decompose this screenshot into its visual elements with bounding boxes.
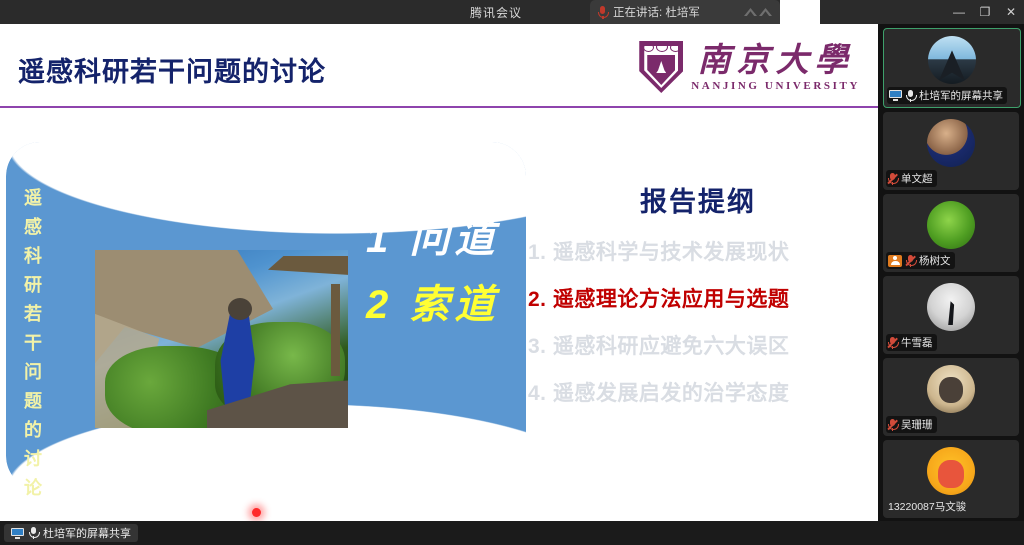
participant-tile-1[interactable]: 杜培军的屏幕共享 (883, 28, 1021, 108)
mic-muted-icon (888, 337, 897, 349)
participant-namebar: 13220087马文骏 (886, 498, 970, 515)
shared-screen-area[interactable]: 遥感科研若干问题的讨论 南京大學 NANJING UNIVERSITY 遥 感 … (0, 24, 878, 521)
participant-name: 13220087马文骏 (888, 499, 966, 514)
screen-share-icon (11, 528, 24, 539)
avatar (927, 201, 975, 249)
participant-panel[interactable]: 杜培军的屏幕共享 单文超 杨树文 牛雪磊 (878, 24, 1024, 521)
participant-tile-6[interactable]: 13220087马文骏 (883, 440, 1019, 518)
speaking-tab-label: 正在讲话: 杜培军 (613, 4, 700, 20)
participant-namebar: 吴珊珊 (886, 416, 937, 433)
participant-name: 牛雪磊 (901, 335, 933, 350)
outline-heading: 报告提纲 (528, 180, 868, 219)
avatar (927, 119, 975, 167)
avatar (928, 36, 976, 84)
waveform-icon (744, 8, 772, 16)
outline-item-4: 4. 遥感发展启发的治学态度 (528, 377, 868, 407)
participant-tile-5[interactable]: 吴珊珊 (883, 358, 1019, 436)
mic-muted-icon (906, 255, 915, 267)
app-title: 腾讯会议 (470, 4, 522, 21)
participant-name: 杜培军的屏幕共享 (919, 88, 1003, 103)
host-badge-icon (888, 255, 902, 267)
slide-photo (95, 250, 348, 428)
banner-line-1: 1 问道 (366, 206, 499, 264)
titlebar-endcap (780, 0, 820, 24)
participant-namebar: 杜培军的屏幕共享 (887, 87, 1007, 104)
avatar (927, 365, 975, 413)
mic-icon (598, 6, 607, 19)
slide-outline: 报告提纲 1. 遥感科学与技术发展现状 2. 遥感理论方法应用与选题 3. 遥感… (528, 180, 868, 407)
window-controls: — ❐ ✕ (946, 0, 1024, 24)
outline-item-3: 3. 遥感科研应避免六大误区 (528, 330, 868, 360)
meeting-window: 腾讯会议 正在讲话: 杜培军 — ❐ ✕ 遥感科研若干问题的讨论 南京大學 N (0, 0, 1024, 545)
taskbar-share-label: 杜培军的屏幕共享 (43, 525, 131, 541)
minimize-button[interactable]: — (946, 0, 972, 24)
participant-name: 单文超 (901, 171, 933, 186)
participant-namebar: 单文超 (886, 170, 937, 187)
mic-icon (906, 90, 915, 102)
laser-pointer-dot (252, 508, 261, 517)
taskbar: 杜培军的屏幕共享 (0, 521, 1024, 545)
avatar (927, 447, 975, 495)
nju-crest-icon (639, 41, 683, 93)
logo-cn-text: 南京大學 (698, 43, 854, 76)
participant-tile-4[interactable]: 牛雪磊 (883, 276, 1019, 354)
participant-tile-2[interactable]: 单文超 (883, 112, 1019, 190)
title-bar: 腾讯会议 (0, 0, 1024, 24)
maximize-button[interactable]: ❐ (972, 0, 998, 24)
outline-item-2: 2. 遥感理论方法应用与选题 (528, 283, 868, 313)
logo-en-text: NANJING UNIVERSITY (691, 80, 860, 92)
speaking-tab[interactable]: 正在讲话: 杜培军 (590, 0, 780, 24)
close-button[interactable]: ✕ (998, 0, 1024, 24)
participant-namebar: 牛雪磊 (886, 334, 937, 351)
screen-share-icon (889, 90, 902, 101)
participant-name: 杨树文 (919, 253, 951, 268)
title-divider (0, 106, 878, 108)
participant-name: 吴珊珊 (901, 417, 933, 432)
taskbar-share-item[interactable]: 杜培军的屏幕共享 (4, 524, 138, 542)
mic-muted-icon (888, 173, 897, 185)
mic-icon (29, 527, 38, 539)
outline-item-1: 1. 遥感科学与技术发展现状 (528, 236, 868, 266)
participant-namebar: 杨树文 (886, 252, 955, 269)
nanjing-university-logo: 南京大學 NANJING UNIVERSITY (639, 36, 860, 98)
mic-muted-icon (888, 419, 897, 431)
banner-vertical-text: 遥 感 科 研 若 干 问 题 的 讨 论 (18, 184, 48, 503)
participant-tile-3[interactable]: 杨树文 (883, 194, 1019, 272)
presentation-slide: 遥感科研若干问题的讨论 南京大學 NANJING UNIVERSITY 遥 感 … (0, 24, 878, 521)
banner-line-2: 2 索道 (366, 272, 499, 330)
slide-title: 遥感科研若干问题的讨论 (18, 50, 326, 89)
avatar (927, 283, 975, 331)
